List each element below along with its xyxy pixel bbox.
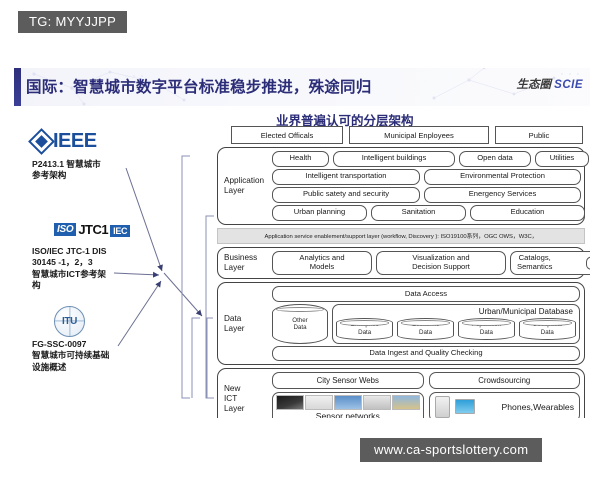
standard-iso: ISO JTC1 IEC ISO/IEC JTC-1 DIS 30145 -1，… — [32, 213, 164, 291]
layer-data-label: Data Layer — [218, 314, 272, 334]
watermark-top: TG: MYYJJPP — [18, 11, 127, 33]
arrow-hub-to-diagram — [164, 273, 202, 316]
biz-analytics-models: Analytics and Models — [272, 251, 372, 276]
bracket-outer — [182, 156, 190, 398]
layer-business-label: Business Layer — [218, 253, 272, 273]
ieee-logo-text: IEEE — [53, 130, 97, 153]
itu-logo: ITU — [32, 306, 164, 336]
app-public-safety-security: Public satety and security — [272, 187, 420, 203]
bracket-inner — [207, 318, 213, 398]
phones-wearables-card: Phones,Wearables — [429, 392, 581, 418]
app-sanitation: Sanitation — [371, 205, 466, 221]
sensor-thumb-vehicle-icon — [392, 395, 420, 410]
data-access: Data Access — [272, 286, 580, 302]
header-accent-bar — [14, 68, 21, 106]
ieee-logo: IEEE — [32, 126, 164, 156]
bracket-tick — [192, 318, 200, 398]
sensor-thumbnails — [276, 395, 420, 410]
standard-itu: ITU FG-SSC-0097 智慧城市可持续基础 设施概述 — [32, 306, 164, 373]
db-economic-data: Economic Data — [397, 318, 454, 340]
ieee-diamond-icon — [28, 128, 55, 155]
sensor-thumb-drone-icon — [305, 395, 333, 410]
sensor-networks-card: Sensor networks — [272, 392, 424, 418]
slide-header-band: 国际：智慧城市数字平台标准稳步推进，殊途同归 生态圈 SCIE — [14, 68, 590, 106]
brand-logo-cn: 生态圈 — [516, 79, 551, 91]
standard-iso-text: ISO/IEC JTC-1 DIS 30145 -1，2，3 智慧城市ICT参考… — [32, 246, 164, 291]
ict-crowdsourcing: Crowdsourcing — [429, 372, 581, 389]
support-layer-bar: Application service enablement/support l… — [217, 228, 585, 244]
app-open-data: Open data — [459, 151, 531, 167]
sensor-thumb-weather-station-icon — [363, 395, 391, 410]
layer-business: Business Layer Analytics and Models Visu… — [217, 247, 585, 280]
app-health: Health — [272, 151, 329, 167]
db-enterprise-data: Enterprise Data — [336, 318, 393, 340]
app-utilities: Utilities — [535, 151, 589, 167]
iso-jtc1-iec-logo: ISO JTC1 IEC — [32, 213, 164, 243]
app-intelligent-transportation: Intelligent transportation — [272, 169, 420, 185]
brand-logo-en: SCIE — [554, 79, 583, 91]
db-geospatial-data: Geospatial Data — [519, 318, 576, 340]
app-emergency-services: Energency Services — [424, 187, 581, 203]
app-intelligent-buildings: Intelligent buildings — [333, 151, 455, 167]
ict-city-sensor-webs: City Sensor Webs — [272, 372, 424, 389]
layer-new-ict-label: New ICT Layer — [218, 384, 272, 414]
stakeholder-elected-officials: Elected Officals — [231, 126, 343, 144]
slide-title: 国际：智慧城市数字平台标准稳步推进，殊途同归 — [26, 75, 371, 97]
standard-ieee-text: P2413.1 智慧城市 参考架构 — [32, 159, 164, 182]
presentation-slide: 国际：智慧城市数字平台标准稳步推进，殊途同归 生态圈 SCIE 业界普遍认可的分… — [14, 68, 590, 418]
sensor-thumb-airship-icon — [334, 395, 362, 410]
iso-badge: ISO — [54, 223, 76, 236]
stakeholder-public: Public — [495, 126, 583, 144]
layer-application-label: Application Layer — [218, 176, 272, 196]
biz-metadata-box: Meatadata — [586, 257, 590, 270]
urban-database-title: Urban/Municipal Database — [336, 307, 576, 317]
stakeholder-municipal-employees: Municipal Enployees — [349, 126, 489, 144]
biz-catalogs-semantics-label: Catalogs, Semantics — [517, 254, 552, 272]
itu-logo-text: ITU — [62, 316, 77, 327]
watermark-bottom: www.ca-sportslottery.com — [360, 438, 542, 462]
iec-badge: IEC — [110, 225, 130, 237]
tablet-thumbnail-icon — [455, 399, 475, 414]
standard-ieee: IEEE P2413.1 智慧城市 参考架构 — [32, 126, 164, 182]
jtc1-text: JTC1 — [78, 222, 108, 237]
data-ingest-quality-checking: Data Ingest and Quality Checking — [272, 346, 580, 362]
stakeholder-row: Elected Officals Municipal Enployees Pub… — [231, 126, 585, 144]
layer-application: Application Layer Health Intelligent bui… — [217, 147, 585, 225]
sensor-networks-caption: Sensor networks — [276, 411, 420, 418]
layer-new-ict: New ICT Layer City Sensor Webs — [217, 368, 585, 418]
app-urban-planning: Urban planning — [272, 205, 367, 221]
biz-catalogs-semantics: Catalogs, Semantics Meatadata — [510, 251, 590, 276]
layer-data: Data Layer Data Access Other Data Urban/… — [217, 282, 585, 365]
phones-wearables-caption: Phones,Wearables — [502, 402, 574, 412]
slide-screenshot: TG: MYYJJPP — [0, 0, 600, 480]
biz-visualization-decision-support: Visualization and Decision Support — [376, 251, 506, 276]
standard-itu-text: FG-SSC-0097 智慧城市可持续基础 设施概述 — [32, 339, 164, 373]
db-population-data: Population Data — [458, 318, 515, 340]
urban-municipal-database: Urban/Municipal Database Enterprise Data… — [332, 304, 580, 343]
sensor-thumb-satellite-icon — [276, 395, 304, 410]
app-education: Education — [470, 205, 585, 221]
db-other-data: Other Data — [272, 304, 328, 343]
brand-logo: 生态圈 SCIE — [516, 76, 583, 92]
app-environmental-protection: Environmental Protection — [424, 169, 581, 185]
architecture-diagram: Elected Officals Municipal Enployees Pub… — [217, 126, 585, 418]
phone-thumbnail-icon — [435, 396, 450, 418]
bracket-middle — [206, 216, 214, 398]
itu-globe-icon: ITU — [54, 306, 85, 337]
